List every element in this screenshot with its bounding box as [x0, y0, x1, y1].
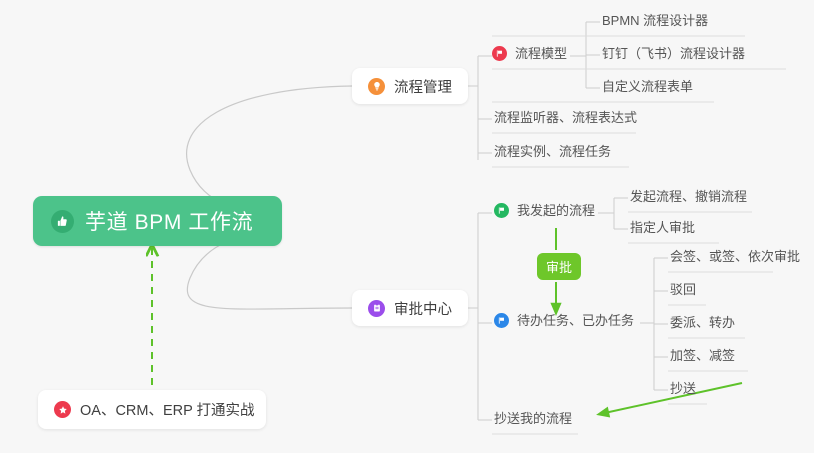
group-node-todo-done-tasks[interactable]: 待办任务、已办任务: [494, 312, 634, 334]
group-label-todo-done-tasks: 待办任务、已办任务: [517, 312, 634, 329]
branch-label-approval-center: 审批中心: [394, 298, 452, 319]
leaf-process-instance-task[interactable]: 流程实例、流程任务: [494, 143, 611, 165]
leaf-cc-to-me-process[interactable]: 抄送我的流程: [494, 410, 572, 432]
group-label-process-model: 流程模型: [515, 45, 567, 62]
star-icon: [54, 401, 71, 418]
branch-node-approval-center[interactable]: 审批中心: [352, 290, 468, 326]
mindmap-canvas: 芋道 BPM 工作流 流程管理 审批中心: [0, 0, 814, 453]
group-label-my-initiated: 我发起的流程: [517, 202, 595, 219]
leaf-reject[interactable]: 驳回: [670, 281, 696, 303]
leaf-dingtalk-feishu-designer[interactable]: 钉钉（飞书）流程设计器: [602, 45, 745, 67]
callout-card-integration[interactable]: OA、CRM、ERP 打通实战: [38, 390, 266, 429]
leaf-delegate-transfer[interactable]: 委派、转办: [670, 314, 735, 336]
approval-chip: 审批: [537, 253, 581, 280]
callout-label: OA、CRM、ERP 打通实战: [80, 399, 255, 420]
leaf-process-listener-expression[interactable]: 流程监听器、流程表达式: [494, 109, 637, 131]
leaf-cc[interactable]: 抄送: [670, 380, 696, 402]
clipboard-icon: [368, 300, 385, 317]
leaf-custom-process-form[interactable]: 自定义流程表单: [602, 78, 693, 100]
flag-icon: [492, 46, 507, 61]
leaf-bpmn-designer[interactable]: BPMN 流程设计器: [602, 12, 708, 34]
root-node[interactable]: 芋道 BPM 工作流: [33, 196, 282, 246]
flag-icon: [494, 313, 509, 328]
lightbulb-icon: [368, 78, 385, 95]
thumbs-up-icon: [51, 210, 74, 233]
group-node-my-initiated[interactable]: 我发起的流程: [494, 202, 595, 224]
flag-icon: [494, 203, 509, 218]
branch-node-process-management[interactable]: 流程管理: [352, 68, 468, 104]
leaf-countersign-orsign-sequential[interactable]: 会签、或签、依次审批: [670, 248, 800, 270]
group-node-process-model[interactable]: 流程模型: [492, 45, 567, 67]
leaf-add-remove-sign[interactable]: 加签、减签: [670, 347, 735, 369]
root-label: 芋道 BPM 工作流: [85, 206, 253, 236]
branch-label-process-management: 流程管理: [394, 76, 452, 97]
leaf-start-cancel-process[interactable]: 发起流程、撤销流程: [630, 188, 747, 210]
leaf-designated-approver[interactable]: 指定人审批: [630, 219, 695, 241]
